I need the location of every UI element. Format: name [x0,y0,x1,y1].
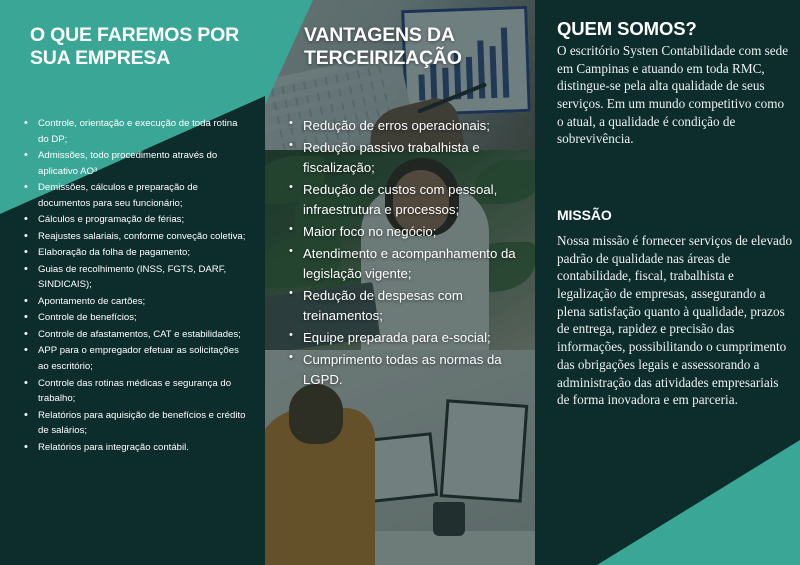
middle-panel: VANTAGENS DA TERCEIRIZAÇÃO Redução de er… [265,0,535,565]
services-list: Controle, orientação e execução de toda … [22,116,250,456]
advantage-list-item: Maior foco no negócio; [287,222,527,243]
service-list-item: Admissões, todo procedimento através do … [22,148,250,179]
service-list-item: Apontamento de cartões; [22,294,250,310]
advantage-list-item: Redução de erros operacionais; [287,116,527,137]
middle-panel-heading: VANTAGENS DA TERCEIRIZAÇÃO [304,24,514,69]
service-list-item: Cálculos e programação de férias; [22,212,250,228]
missao-heading: MISSÃO [557,207,787,223]
service-list-item: Controle de benefícios; [22,310,250,326]
left-panel: O QUE FAREMOS POR SUA EMPRESA Controle, … [0,0,265,565]
advantage-list-item: Redução passivo trabalhista e fiscalizaç… [287,138,527,179]
quem-somos-text: O escritório Systen Contabilidade com se… [557,42,793,148]
advantage-list-item: Redução de custos com pessoal, infraestr… [287,180,527,221]
advantage-list-item: Equipe preparada para e-social; [287,328,527,349]
service-list-item: Controle das rotinas médicas e segurança… [22,376,250,407]
service-list-item: Demissões, cálculos e preparação de docu… [22,180,250,211]
service-list-item: Guias de recolhimento (INSS, FGTS, DARF,… [22,262,250,293]
missao-text: Nossa missão é fornecer serviços de elev… [557,232,793,409]
service-list-item: Controle de afastamentos, CAT e estabili… [22,327,250,343]
service-list-item: Controle, orientação e execução de toda … [22,116,250,147]
advantage-list-item: Cumprimento todas as normas da LGPD. [287,350,527,391]
left-panel-heading: O QUE FAREMOS POR SUA EMPRESA [30,24,245,69]
service-list-item: Elaboração da folha de pagamento; [22,245,250,261]
service-list-item: Relatórios para integração contábil. [22,440,250,456]
advantage-list-item: Atendimento e acompanhamento da legislaç… [287,244,527,285]
advantages-list: Redução de erros operacionais;Redução pa… [287,116,527,392]
quem-somos-heading: QUEM SOMOS? [557,18,787,39]
advantage-list-item: Redução de despesas com treinamentos; [287,286,527,327]
service-list-item: APP para o empregador efetuar as solicit… [22,343,250,374]
service-list-item: Reajustes salariais, conforme conveção c… [22,229,250,245]
service-list-item: Relatórios para aquisição de benefícios … [22,408,250,439]
brochure-page: O QUE FAREMOS POR SUA EMPRESA Controle, … [0,0,800,565]
right-panel: QUEM SOMOS? O escritório Systen Contabil… [535,0,800,565]
